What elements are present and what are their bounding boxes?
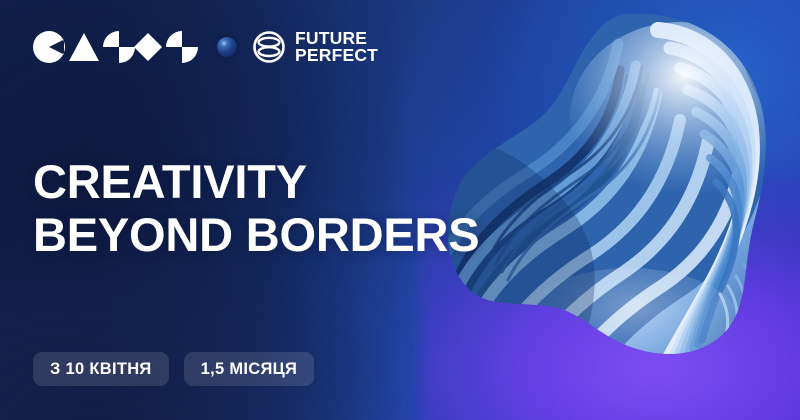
pill-duration[interactable]: 1,5 МІСЯЦЯ (184, 352, 315, 386)
banded-circle-icon (252, 30, 286, 64)
sphere-dot-icon (217, 37, 237, 57)
future-perfect-logo[interactable]: FUTURE PERFECT (252, 30, 378, 64)
cases-glyph-s-2 (165, 31, 199, 63)
future-perfect-wordmark: FUTURE PERFECT (295, 30, 378, 63)
cases-glyph-a (69, 33, 99, 61)
abstract-wave-blob-artwork (430, 8, 800, 408)
cases-logo[interactable] (33, 31, 163, 63)
headline-line-1: CREATIVITY (33, 156, 479, 209)
cases-glyph-c (33, 31, 65, 63)
cases-glyph-e (134, 33, 162, 61)
promo-banner: FUTURE PERFECT CREATIVITY BEYOND BORDERS… (0, 0, 800, 420)
header-logo-row: FUTURE PERFECT (33, 26, 378, 68)
pill-start-date[interactable]: З 10 КВІТНЯ (33, 352, 169, 386)
future-perfect-line-2: PERFECT (295, 47, 378, 64)
info-pill-row: З 10 КВІТНЯ 1,5 МІСЯЦЯ (33, 352, 314, 386)
cases-glyph-s-1 (103, 31, 135, 63)
headline: CREATIVITY BEYOND BORDERS (33, 156, 479, 261)
headline-line-2: BEYOND BORDERS (33, 209, 479, 262)
